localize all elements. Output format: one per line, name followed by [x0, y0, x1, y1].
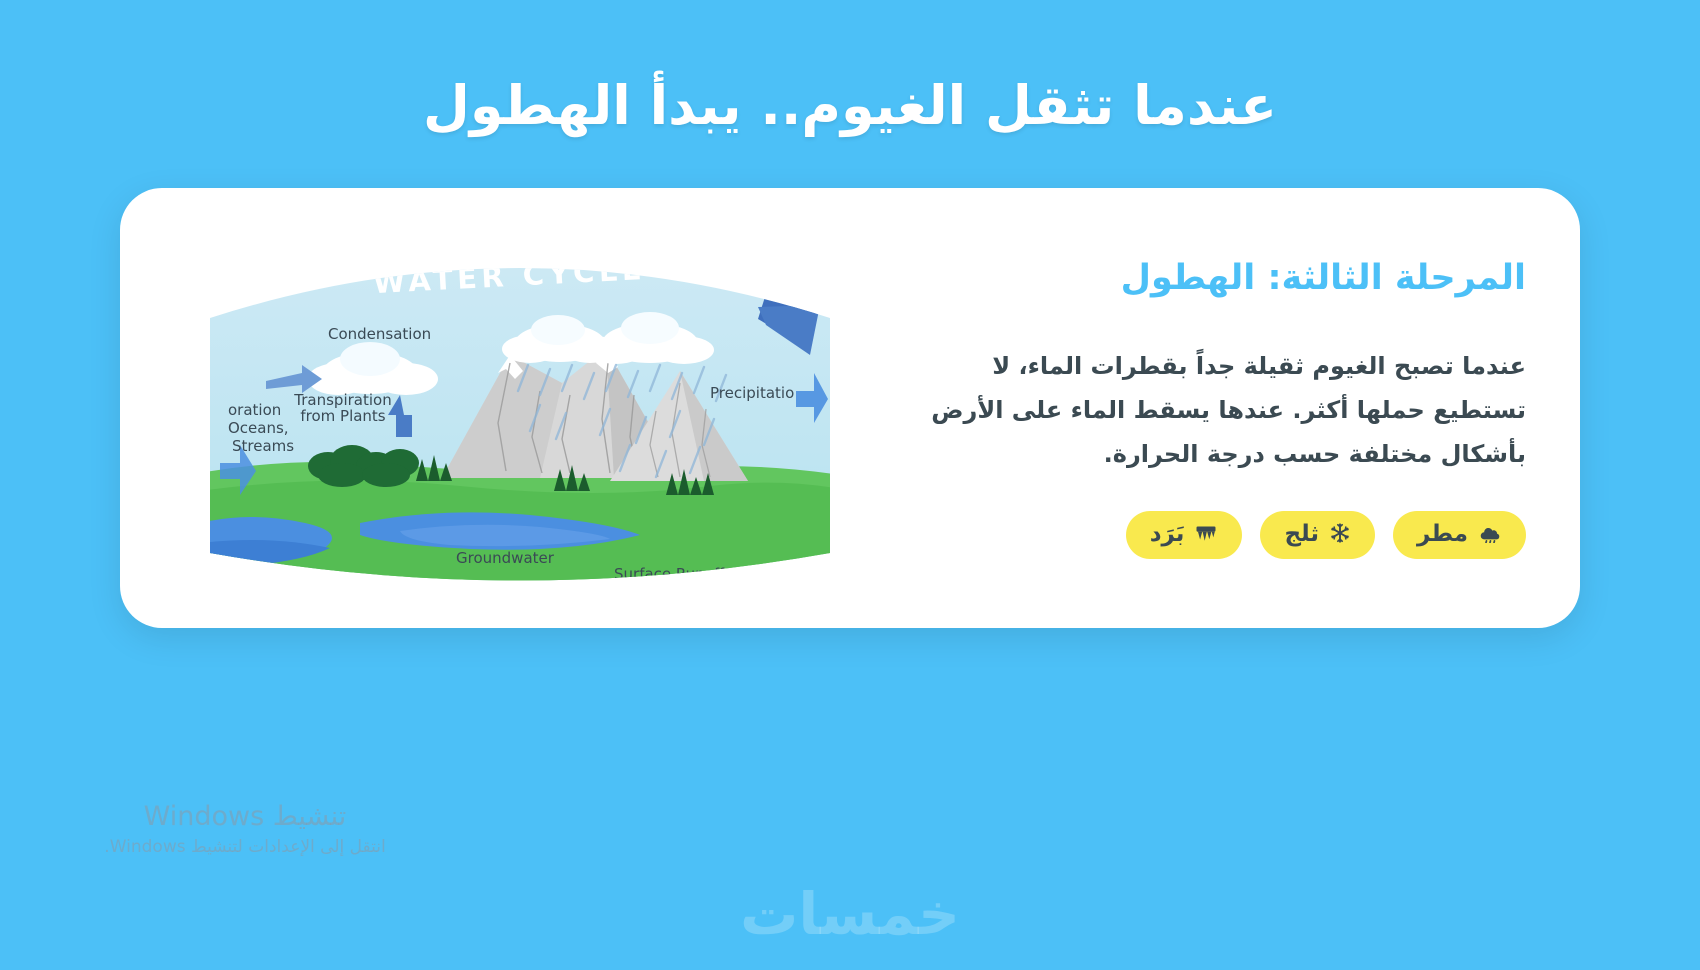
precipitation-badge-row: مطر: [916, 511, 1526, 559]
water-cycle-image: WATER CYCLE: [210, 223, 830, 593]
svg-text:oration: oration: [228, 401, 281, 419]
badge-snow-label: ثلج: [1284, 523, 1319, 546]
badge-rain[interactable]: مطر: [1393, 511, 1526, 559]
card-wrapper: المرحلة الثالثة: الهطول عندما تصبح الغيو…: [0, 188, 1700, 628]
content-card: المرحلة الثالثة: الهطول عندما تصبح الغيو…: [120, 188, 1580, 628]
badge-snow[interactable]: ثلج: [1260, 511, 1375, 559]
svg-text:Oceans,: Oceans,: [228, 419, 289, 437]
stage-heading: المرحلة الثالثة: الهطول: [916, 256, 1526, 302]
svg-text:Groundwater: Groundwater: [456, 549, 555, 567]
brand-watermark: خمسات: [0, 880, 1700, 948]
svg-text:Streams: Streams: [232, 437, 294, 455]
windows-activation-title: تنشيط Windows: [80, 800, 410, 834]
snowflake-icon: [1329, 522, 1351, 548]
rain-cloud-icon: [1478, 523, 1502, 547]
svg-text:Surface Runoff: Surface Runoff: [614, 565, 725, 583]
windows-activation-subtitle: انتقل إلى الإعدادات لتنشيط Windows.: [80, 836, 410, 860]
text-column: المرحلة الثالثة: الهطول عندما تصبح الغيو…: [876, 256, 1536, 559]
badge-hail[interactable]: بَرَد: [1126, 511, 1243, 559]
svg-text:from Plants: from Plants: [300, 407, 385, 425]
badge-rain-label: مطر: [1417, 523, 1468, 546]
badge-hail-label: بَرَد: [1150, 523, 1185, 546]
windows-activation-watermark: تنشيط Windows انتقل إلى الإعدادات لتنشيط…: [80, 800, 410, 860]
hail-icon: [1194, 523, 1218, 547]
stage-description: عندما تصبح الغيوم ثقيلة جداً بقطرات الما…: [916, 344, 1526, 477]
svg-text:Condensation: Condensation: [328, 325, 431, 343]
svg-text:Precipitatio: Precipitatio: [710, 384, 794, 402]
page-title: عندما تثقل الغيوم.. يبدأ الهطول: [0, 0, 1700, 140]
illustration-column: WATER CYCLE: [164, 223, 876, 593]
